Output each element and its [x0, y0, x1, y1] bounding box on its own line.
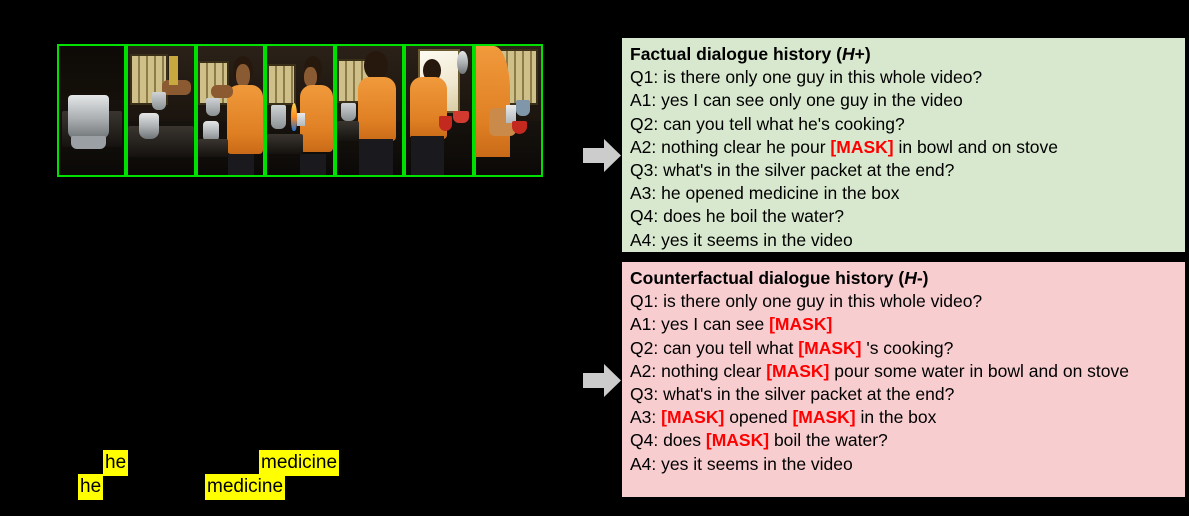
dialogue-text: in bowl and on stove [894, 137, 1058, 157]
counterfactual-dialogue-panel: Counterfactual dialogue history (H-) Q1:… [622, 262, 1185, 497]
counterfactual-line-6: A3: [MASK] opened [MASK] in the box [630, 406, 1177, 429]
counterfactual-line-5: Q3: what's in the silver packet at the e… [630, 383, 1177, 406]
factual-title-symbol: H [842, 44, 855, 64]
video-frame-3[interactable] [196, 44, 265, 177]
video-frame-7[interactable] [474, 44, 543, 177]
factual-title-prefix: Factual dialogue history ( [630, 44, 842, 64]
factual-line-6: A3: he opened medicine in the box [630, 182, 1177, 205]
dialogue-text: 's cooking? [861, 338, 953, 358]
frame-scene-pouring [128, 46, 193, 175]
dialogue-text: A4: yes it seems in the video [630, 230, 853, 250]
highlighted-word: he [78, 474, 103, 500]
dialogue-text: Q1: is there only one guy in this whole … [630, 291, 982, 311]
mask-token: [MASK] [766, 361, 829, 381]
factual-panel-title: Factual dialogue history (H+) [630, 43, 1177, 66]
dialogue-text: A1: yes I can see [630, 314, 769, 334]
mask-token: [MASK] [769, 314, 832, 334]
factual-title-suffix: +) [855, 44, 871, 64]
video-frame-6[interactable] [404, 44, 473, 177]
counterfactual-dialogue-lines: Q1: is there only one guy in this whole … [630, 290, 1177, 476]
dialogue-text: Q3: what's in the silver packet at the e… [630, 384, 954, 404]
video-frame-1[interactable] [57, 44, 126, 177]
counterfactual-title-prefix: Counterfactual dialogue history ( [630, 268, 904, 288]
counterfactual-line-7: Q4: does [MASK] boil the water? [630, 429, 1177, 452]
highlighted-word: medicine [205, 474, 285, 500]
dialogue-text: A3: [630, 407, 661, 427]
counterfactual-panel-title: Counterfactual dialogue history (H-) [630, 267, 1177, 290]
dialogue-text: Q2: can you tell what [630, 338, 798, 358]
frame-scene-silver-packet [476, 46, 541, 175]
factual-dialogue-lines: Q1: is there only one guy in this whole … [630, 66, 1177, 252]
factual-line-8: A4: yes it seems in the video [630, 229, 1177, 252]
dialogue-text: A2: nothing clear he pour [630, 137, 830, 157]
video-frame-4[interactable] [265, 44, 334, 177]
frame-scene-at-window [406, 46, 471, 175]
frame-scene-pot-closeup [59, 46, 124, 175]
dialogue-text: Q1: is there only one guy in this whole … [630, 67, 982, 87]
factual-line-3: Q2: can you tell what he's cooking? [630, 113, 1177, 136]
factual-line-5: Q3: what's in the silver packet at the e… [630, 159, 1177, 182]
dialogue-text: pour some water in bowl and on stove [829, 361, 1129, 381]
counterfactual-line-1: Q1: is there only one guy in this whole … [630, 290, 1177, 313]
dialogue-text: Q4: does he boil the water? [630, 206, 844, 226]
dialogue-text: opened [724, 407, 792, 427]
dialogue-text: A2: nothing clear [630, 361, 766, 381]
counterfactual-line-3: Q2: can you tell what [MASK] 's cooking? [630, 337, 1177, 360]
video-frame-5[interactable] [335, 44, 404, 177]
factual-line-2: A1: yes I can see only one guy in the vi… [630, 89, 1177, 112]
dialogue-text: boil the water? [769, 430, 888, 450]
highlighted-word: medicine [259, 450, 339, 476]
mask-token: [MASK] [706, 430, 769, 450]
factual-line-4: A2: nothing clear he pour [MASK] in bowl… [630, 136, 1177, 159]
counterfactual-title-symbol: H [904, 268, 917, 288]
dialogue-text: in the box [856, 407, 937, 427]
frame-scene-standing [337, 46, 402, 175]
highlighted-keywords-block: hemedicine hemedicine [60, 450, 580, 506]
factual-line-1: Q1: is there only one guy in this whole … [630, 66, 1177, 89]
counterfactual-line-8: A4: yes it seems in the video [630, 453, 1177, 476]
dialogue-text: Q4: does [630, 430, 706, 450]
dialogue-text: Q3: what's in the silver packet at the e… [630, 160, 954, 180]
counterfactual-line-2: A1: yes I can see [MASK] [630, 313, 1177, 336]
frame-scene-lighting-stove [267, 46, 332, 175]
right-arrow-icon [583, 364, 621, 397]
video-frame-2[interactable] [126, 44, 195, 177]
mask-token: [MASK] [792, 407, 855, 427]
mask-token: [MASK] [830, 137, 893, 157]
mask-token: [MASK] [798, 338, 861, 358]
dialogue-text: A4: yes it seems in the video [630, 454, 853, 474]
right-arrow-icon [583, 139, 621, 172]
factual-line-7: Q4: does he boil the water? [630, 205, 1177, 228]
frame-scene-stirring [198, 46, 263, 175]
factual-dialogue-panel: Factual dialogue history (H+) Q1: is the… [622, 38, 1185, 252]
dialogue-text: A1: yes I can see only one guy in the vi… [630, 90, 963, 110]
counterfactual-line-4: A2: nothing clear [MASK] pour some water… [630, 360, 1177, 383]
dialogue-text: Q2: can you tell what he's cooking? [630, 114, 905, 134]
dialogue-text: A3: he opened medicine in the box [630, 183, 900, 203]
highlighted-word: he [103, 450, 128, 476]
counterfactual-title-suffix: -) [917, 268, 929, 288]
video-filmstrip [57, 44, 543, 177]
mask-token: [MASK] [661, 407, 724, 427]
